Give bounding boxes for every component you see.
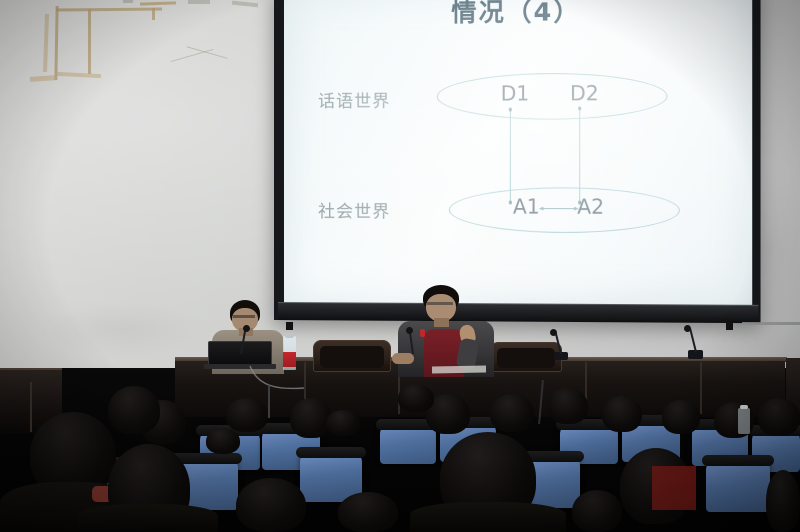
screen-bottom-bar <box>278 302 758 323</box>
chair <box>313 340 391 372</box>
audience-head <box>236 478 306 532</box>
audience-head <box>326 410 360 436</box>
microphone-capsule <box>406 327 413 334</box>
slide-title: 情况（4） <box>284 0 752 30</box>
panelist-left-glasses <box>233 315 255 318</box>
cabinet-panel-line <box>30 382 32 432</box>
audience-head <box>226 398 268 432</box>
double-arrow-a1-a2 <box>538 205 579 213</box>
audience-head <box>602 396 642 432</box>
audience-head <box>290 398 332 438</box>
tape-mark <box>188 0 210 4</box>
microphone-capsule <box>243 325 250 332</box>
screen-mount-foot <box>726 322 733 330</box>
audience-head <box>548 388 588 424</box>
projection-screen-assembly: 情况（4） 话语世界 社会世界 D1 D2 A1 A2 <box>274 0 752 326</box>
microphone-capsule <box>684 325 691 332</box>
papers <box>432 366 486 374</box>
row-label-social-world: 社会世界 <box>318 197 390 222</box>
table-seam <box>700 362 702 414</box>
microphone-capsule <box>550 329 557 336</box>
node-a1: A1 <box>513 194 540 218</box>
audience-head <box>398 384 434 412</box>
lecture-hall-photo: 情况（4） 话语世界 社会世界 D1 D2 A1 A2 <box>0 0 800 532</box>
connector-d1-a1 <box>510 110 511 203</box>
chair-backrest <box>497 348 555 368</box>
audience-head <box>206 428 240 454</box>
node-d1: D1 <box>501 81 530 105</box>
audience-head <box>108 386 160 434</box>
speaker-right-neck <box>434 318 449 327</box>
audience-head <box>338 492 398 532</box>
chair-backrest <box>320 346 384 368</box>
speaker-right-hand-resting <box>392 353 414 364</box>
audience-head <box>572 490 622 532</box>
connector-endpoint-dot <box>578 106 582 110</box>
red-banner <box>652 466 696 510</box>
audience-head <box>766 470 800 532</box>
screen-light-glow <box>284 0 752 307</box>
audience-shoulders <box>410 502 566 532</box>
projected-slide: 情况（4） 话语世界 社会世界 D1 D2 A1 A2 <box>284 0 752 307</box>
lapel-badge <box>420 329 425 337</box>
audience-head <box>662 400 700 434</box>
audience-water-bottle-cap <box>740 405 748 409</box>
audience-shoulders <box>78 504 218 532</box>
row-label-discourse-world: 话语世界 <box>318 87 390 112</box>
audience-seat <box>380 424 436 464</box>
audience-head <box>490 394 534 432</box>
connector-endpoint-dot <box>508 200 512 204</box>
wall-rail <box>742 322 800 325</box>
audience-head <box>758 398 800 436</box>
cable <box>248 364 308 396</box>
tape-mark <box>152 8 155 20</box>
node-a2: A2 <box>577 194 604 218</box>
tape-mark <box>88 9 91 74</box>
chair <box>490 342 562 372</box>
node-d2: D2 <box>570 81 599 105</box>
audience-seat <box>706 460 770 512</box>
connector-endpoint-dot <box>508 108 512 112</box>
screen-frame: 情况（4） 话语世界 社会世界 D1 D2 A1 A2 <box>274 0 761 323</box>
stand-pole <box>268 384 270 418</box>
discourse-world-ellipse <box>437 73 668 120</box>
water-bottle-cap <box>285 333 294 338</box>
speaker-right-glasses <box>427 302 453 305</box>
audience-water-bottle <box>738 408 750 434</box>
scratch-mark <box>123 0 133 3</box>
connector-d2-a2 <box>579 108 580 202</box>
speaker-right <box>398 285 498 375</box>
